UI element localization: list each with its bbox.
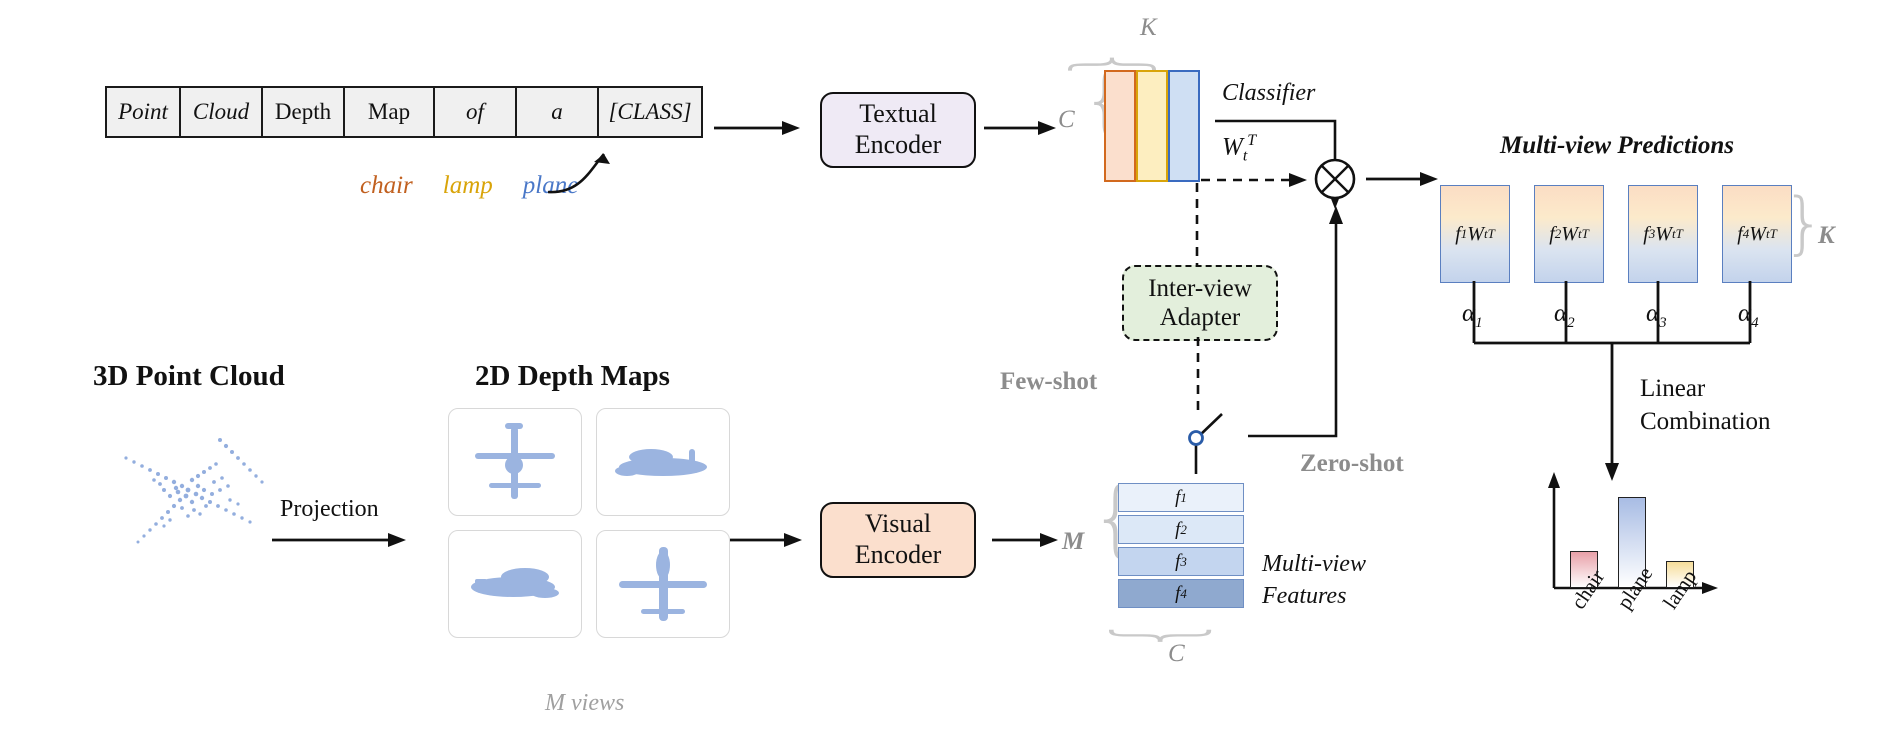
multi-view-predictions-title: Multi-view Predictions [1500,132,1734,160]
alpha-label-2: α2 [1554,300,1575,332]
plane-column [1168,70,1200,182]
arrow-multiply-to-predictions [1366,169,1446,189]
alpha-label-3: α3 [1646,300,1667,332]
arrow-projection [272,530,412,552]
multiply-operator [1313,157,1357,201]
textual-encoder-line1: Textual [859,99,937,130]
class-word-lamp[interactable]: lamp [443,172,493,200]
projection-label: Projection [280,496,379,523]
linear-combination-line1: Linear [1640,372,1771,405]
multi-view-features-caption: Multi-view Features [1262,548,1366,613]
prompt-token-1[interactable]: Cloud [181,88,263,136]
pred-w-sup-2: T [1582,226,1589,242]
depth-map-grid [448,408,730,638]
alpha-symbol-3: α [1646,300,1659,327]
feature-row-1: f1 [1118,483,1244,512]
arrow-depthmaps-to-visual-encoder [730,530,810,552]
prompt-token-2[interactable]: Depth [263,88,345,136]
views-caption: M views [545,690,624,717]
textual-encoder-line2: Encoder [855,130,942,161]
pred-w-2: W [1561,223,1578,246]
feature-row-4: f4 [1118,579,1244,608]
arrow-visual-encoder-to-features [992,530,1066,552]
classifier-dim-k-label: K [1140,14,1157,42]
predictions-dim-k-label: K [1818,222,1835,250]
prompt-token-0[interactable]: Point [107,88,181,136]
prediction-box-2: f2WtT [1534,185,1604,283]
textual-encoder-box[interactable]: Textual Encoder [820,92,976,168]
alpha-symbol-1: α [1462,300,1475,327]
alpha-sub-2: 2 [1567,315,1575,331]
arrow-textual-encoder-to-classifier [984,118,1062,138]
linear-combination-label: Linear Combination [1640,372,1771,438]
prediction-box-3: f3WtT [1628,185,1698,283]
classifier-dim-c-label: C [1058,106,1075,134]
feature-sub-4: 4 [1180,586,1187,602]
chair-column [1104,70,1136,182]
feature-sub-3: 3 [1180,554,1187,570]
prompt-token-3[interactable]: Map [345,88,435,136]
depth-map-view-2 [596,408,730,516]
alpha-label-4: α4 [1738,300,1759,332]
pred-w-sup-1: T [1488,226,1495,242]
features-c-brace: { [1090,620,1220,649]
features-caption-line2: Features [1262,580,1366,612]
predictions-k-brace: { [1780,192,1823,257]
prompt-token-4[interactable]: of [435,88,517,136]
depth-map-view-4 [596,530,730,638]
classifier-weight-matrix [1104,70,1200,182]
alpha-symbol-4: α [1738,300,1751,327]
multi-view-feature-stack: f1f2f3f4 [1118,483,1244,611]
point-cloud-illustration [70,420,290,570]
pred-w-sup-4: T [1770,226,1777,242]
features-dim-m-label: M [1062,528,1084,556]
prompt-template-row: PointCloudDepthMapofa[CLASS] [105,86,703,138]
prompt-token-6[interactable]: [CLASS] [599,88,701,136]
features-dim-c-label: C [1168,640,1185,668]
pred-w-sup-3: T [1676,226,1683,242]
depth-map-view-1 [448,408,582,516]
zero-shot-label: Zero-shot [1300,450,1404,478]
feature-row-3: f3 [1118,547,1244,576]
classifier-label: Classifier [1222,80,1315,107]
pred-w-1: W [1467,223,1484,246]
prompt-token-5[interactable]: a [517,88,599,136]
pred-w-4: W [1749,223,1766,246]
point-cloud-title: 3D Point Cloud [93,360,285,393]
feature-sub-1: 1 [1180,490,1187,506]
visual-encoder-line1: Visual [865,509,931,540]
lamp-column [1136,70,1168,182]
arrow-prompt-to-textual-encoder [714,118,806,138]
feature-sub-2: 2 [1180,522,1187,538]
visual-encoder-box[interactable]: Visual Encoder [820,502,976,578]
adapter-to-switch-dashed-line [1196,337,1208,415]
alpha-symbol-2: α [1554,300,1567,327]
alpha-sub-1: 1 [1475,315,1483,331]
alpha-sub-3: 3 [1659,315,1667,331]
pred-w-3: W [1655,223,1672,246]
class-word-chair[interactable]: chair [360,172,413,200]
zero-shot-path [1228,198,1348,440]
alpha-sub-4: 4 [1751,315,1759,331]
prediction-box-1: f1WtT [1440,185,1510,283]
multi-view-prediction-boxes: f1WtTf2WtTf3WtTf4WtT [1440,185,1792,283]
alpha-label-1: α1 [1462,300,1483,332]
linear-combination-line2: Combination [1640,405,1771,438]
features-caption-line1: Multi-view [1262,548,1366,580]
visual-encoder-line2: Encoder [855,540,942,571]
few-shot-label: Few-shot [1000,368,1097,396]
depth-map-view-3 [448,530,582,638]
depth-maps-title: 2D Depth Maps [475,360,670,393]
class-curve-arrow [540,140,660,200]
feature-row-2: f2 [1118,515,1244,544]
